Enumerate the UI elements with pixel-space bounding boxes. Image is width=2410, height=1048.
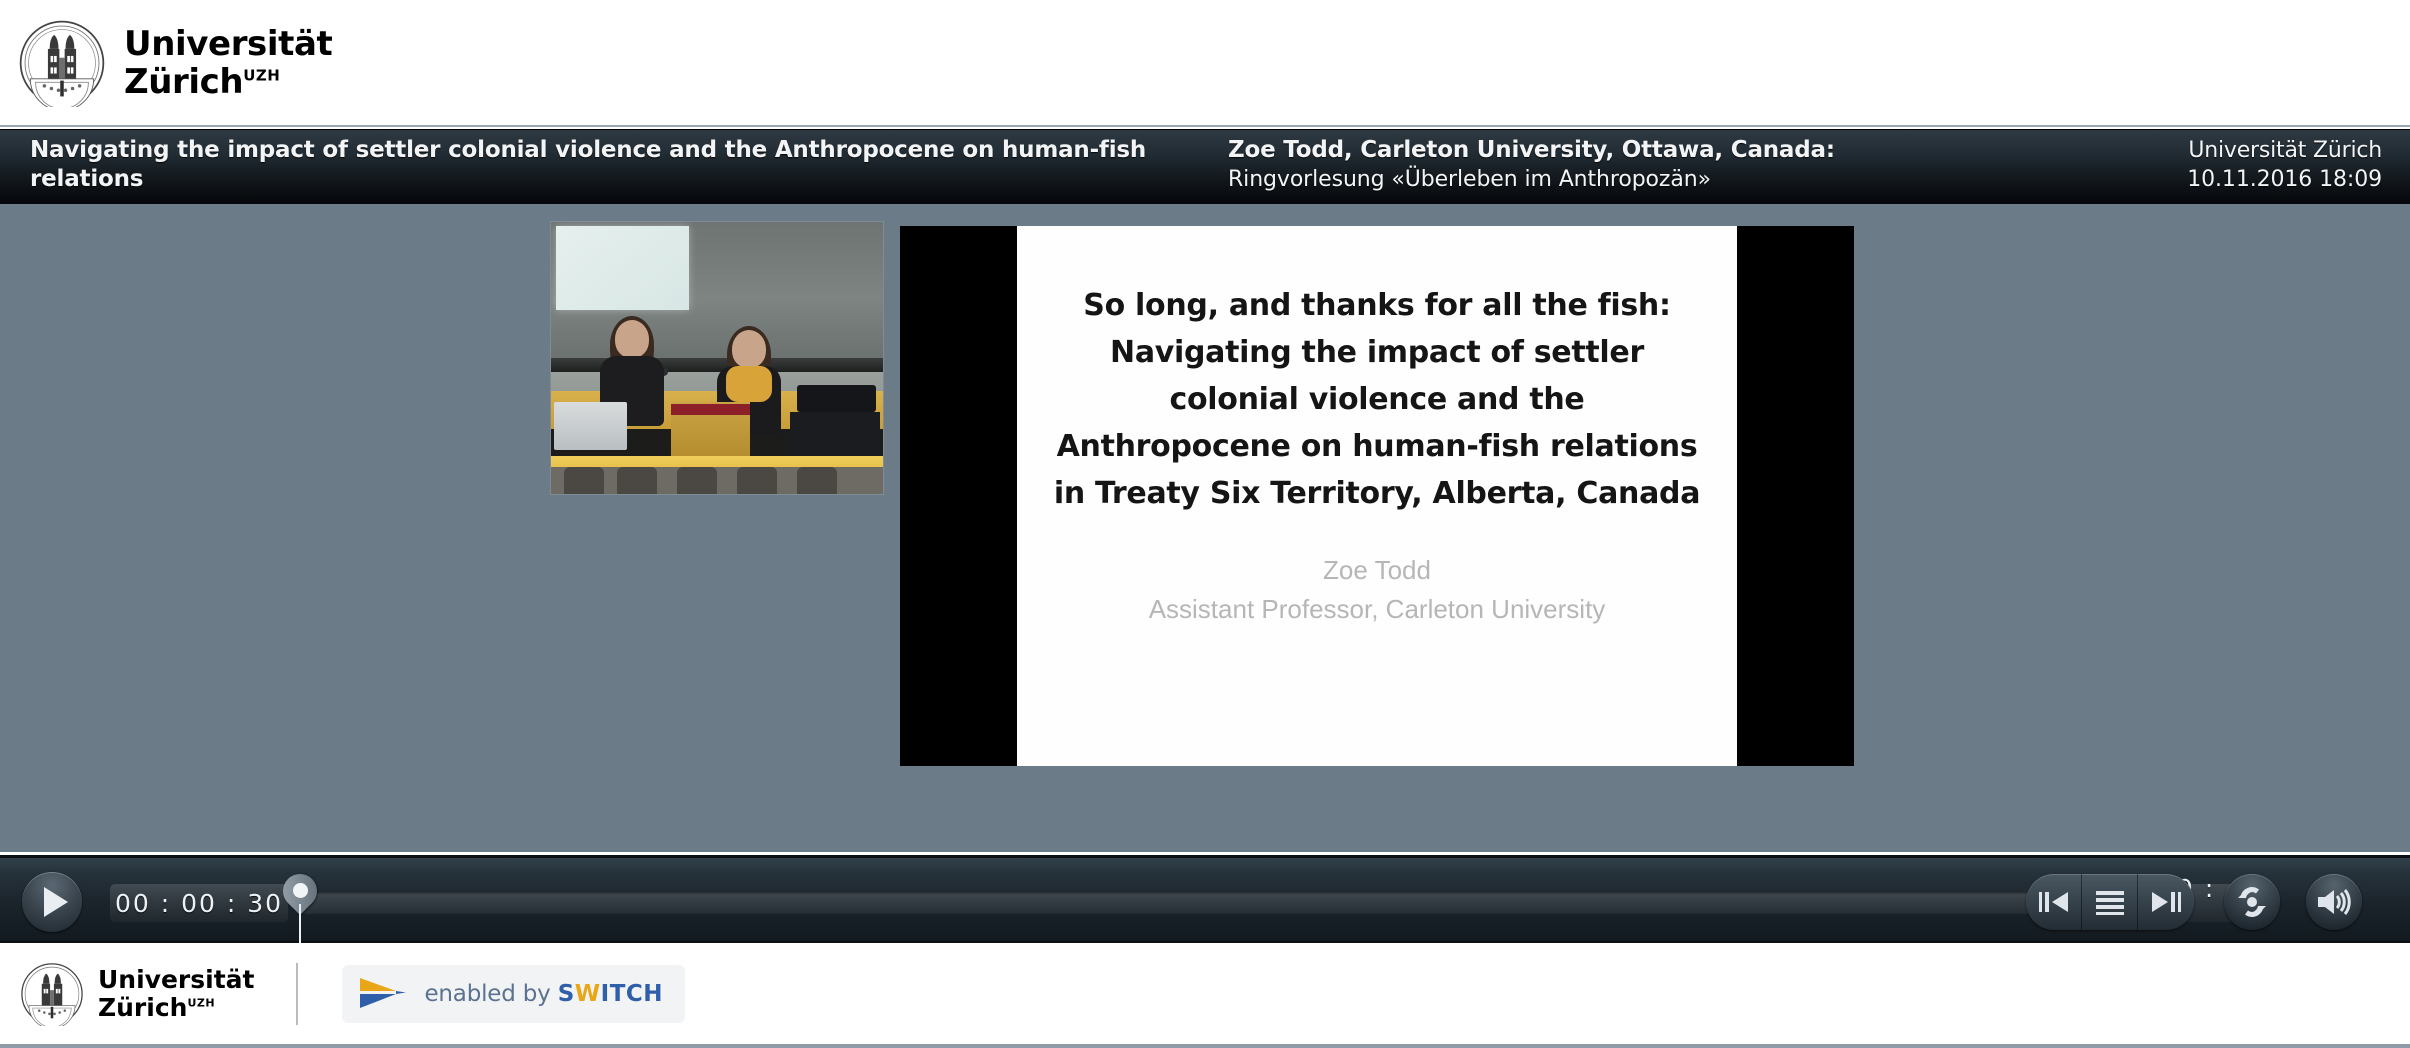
slide-presenter-name: Zoe Todd [1149,551,1606,590]
chair [737,467,777,494]
playhead-dot [293,883,308,898]
uzh-seal-icon [20,962,84,1026]
uzh-wordmark-superscript: UZH [243,66,280,84]
lecture-title-line2: relations [30,165,1180,194]
slide-viewport[interactable]: So long, and thanks for all the fish: Na… [900,226,1854,766]
venue-block: Universität Zürich 10.11.2016 18:09 [1742,136,2382,194]
footer-divider [296,963,298,1025]
speaker-video-thumbnail[interactable] [551,222,883,494]
stage-monitor [797,385,877,412]
uzh-wordmark-line2: ZürichUZH [124,65,332,99]
volume-button[interactable] [2306,874,2362,930]
switch-badge[interactable]: enabled by SWITCH [342,965,685,1023]
head [732,330,766,368]
uzh-wordmark-line1: Universität [124,27,332,61]
chair [617,467,657,494]
previous-chapter-icon [2037,888,2071,916]
chapter-list-icon [2095,889,2125,915]
slide-presenter-affiliation: Assistant Professor, Carleton University [1149,590,1606,629]
footer-uzh-line2: ZürichUZH [98,995,254,1021]
chapter-list-button[interactable] [2082,874,2138,930]
venue-location: Universität Zürich [1742,136,2382,165]
footer-uzh-superscript: UZH [187,997,215,1010]
footer-uzh-logo-lockup[interactable]: Universität ZürichUZH [20,962,254,1026]
uzh-wordmark: Universität ZürichUZH [124,27,332,99]
playhead-handle[interactable] [283,874,317,946]
switch-brandmark: SWITCH [558,981,663,1007]
uzh-seal-icon [18,19,106,107]
playhead-stem [299,904,301,946]
play-icon [44,887,68,917]
previous-chapter-button[interactable] [2026,874,2082,930]
volume-icon [2315,886,2353,918]
slide-subtitle: Zoe Todd Assistant Professor, Carleton U… [1149,551,1606,629]
slide-title: So long, and thanks for all the fish: Na… [1049,282,1705,517]
audience-chairs-row [551,467,883,494]
lecture-title-line1: Navigating the impact of settler colonia… [30,136,1180,165]
imac-computer [554,402,627,451]
elapsed-time-display: 00 : 00 : 30 [110,884,288,922]
media-player-page: Universität ZürichUZH Navigating the imp… [0,0,2410,1048]
player-control-bar: 00 : 00 : 30 - 01 : 29 : 16 [0,855,2410,943]
next-chapter-icon [2149,888,2183,916]
footer-uzh-line1: Universität [98,967,254,993]
projection-screen [556,226,689,310]
switch-enabled-text: enabled by [424,981,557,1007]
brand-header: Universität ZürichUZH [0,0,2410,127]
scarf [726,366,772,402]
chapter-button-group [2026,874,2194,930]
uzh-logo-lockup[interactable]: Universität ZürichUZH [18,19,332,107]
seek-bar[interactable] [300,892,2058,914]
red-cloth [671,404,751,415]
switch-arrow-icon [356,974,410,1014]
next-chapter-button[interactable] [2138,874,2194,930]
equipment-rack [790,412,880,456]
head [615,320,649,358]
venue-datetime: 10.11.2016 18:09 [1742,165,2382,194]
chair [677,467,717,494]
page-footer: Universität ZürichUZH enabled by SWITCH [0,943,2410,1048]
lecture-info-bar: Navigating the impact of settler colonia… [0,129,2410,204]
swap-layout-button[interactable] [2224,874,2280,930]
chair [797,467,837,494]
presentation-slide: So long, and thanks for all the fish: Na… [1017,226,1737,766]
footer-uzh-wordmark: Universität ZürichUZH [98,967,254,1021]
chair [564,467,604,494]
play-button[interactable] [22,872,82,932]
swap-layout-icon [2234,886,2270,918]
switch-badge-text: enabled by SWITCH [424,981,663,1007]
lecture-title-block: Navigating the impact of settler colonia… [30,136,1180,194]
